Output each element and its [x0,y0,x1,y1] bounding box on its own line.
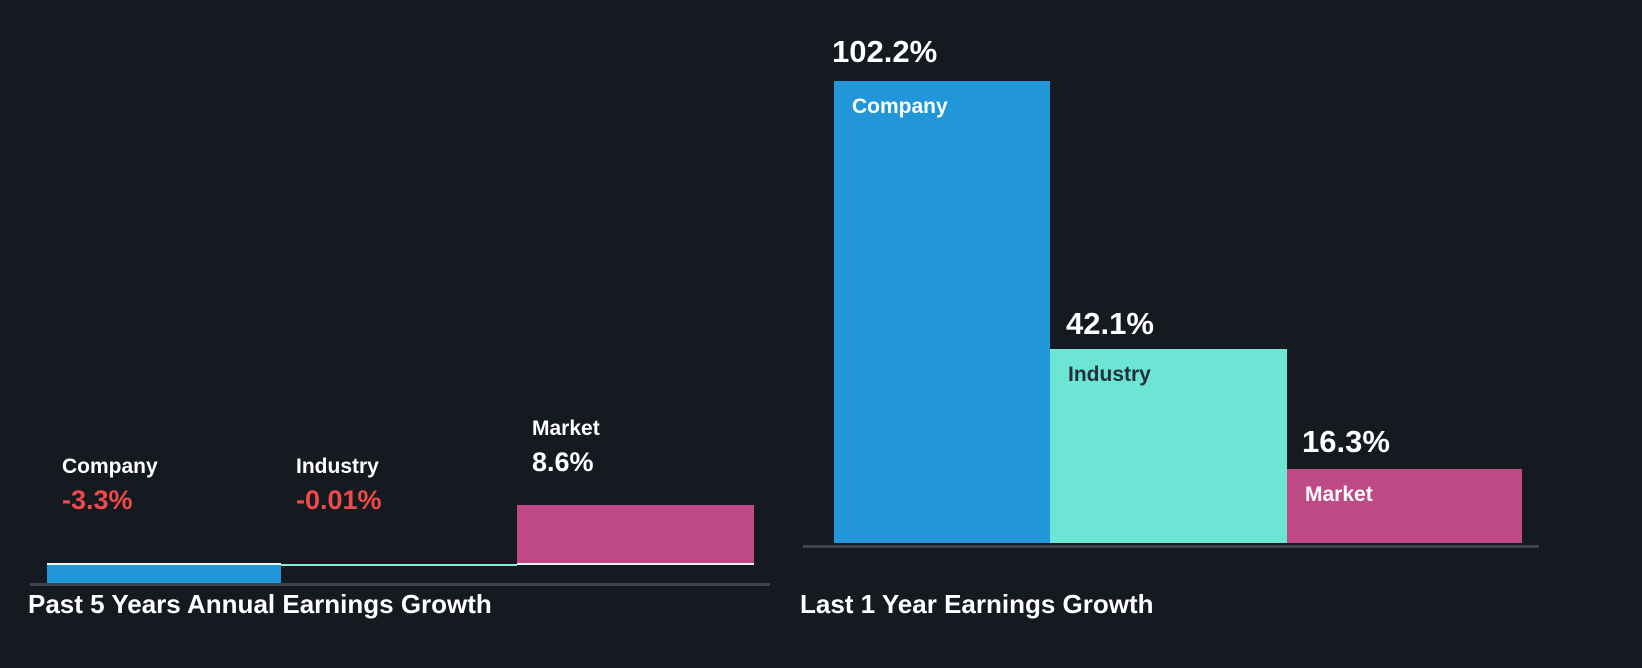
chart-last-1-year-earnings-growth: Company 102.2% Industry 42.1% Market 16.… [798,0,1642,668]
bar-label-industry: Industry [296,456,382,478]
bar-value-company: 102.2% [832,34,937,70]
earnings-growth-comparison-figure: Company -3.3% Industry -0.01% Market 8.6… [0,0,1642,668]
bar-label-market: Market [532,418,600,440]
bar-value-industry: 42.1% [1066,306,1154,342]
bar-industry[interactable]: Industry [1050,349,1287,543]
chart-title-last-1-year: Last 1 Year Earnings Growth [800,589,1154,620]
x-axis-line-left-chart [30,583,770,586]
bar-value-market: 16.3% [1302,424,1390,460]
bar-inner-label-industry: Industry [1068,363,1151,387]
bar-value-company: -3.3% [62,484,158,516]
bar-inner-label-market: Market [1305,483,1373,507]
bar-company[interactable] [47,565,281,583]
bar-company[interactable]: Company [834,81,1050,543]
bar-value-industry: -0.01% [296,484,382,516]
industry-bar-near-zero[interactable] [281,564,517,566]
chart-past-5-years-annual-earnings-growth: Company -3.3% Industry -0.01% Market 8.6… [0,0,790,668]
label-group-market: Market 8.6% [532,418,600,478]
bar-inner-label-company: Company [852,95,948,119]
x-axis-line-right-chart [803,545,1539,548]
bar-value-market: 8.6% [532,446,600,478]
bar-market[interactable] [517,505,754,563]
bar-label-company: Company [62,456,158,478]
label-group-industry: Industry -0.01% [296,456,382,516]
label-group-company: Company -3.3% [62,456,158,516]
zero-line-segment-market [517,563,754,565]
chart-title-past-5-years: Past 5 Years Annual Earnings Growth [28,589,492,620]
bar-market[interactable]: Market [1287,469,1522,543]
